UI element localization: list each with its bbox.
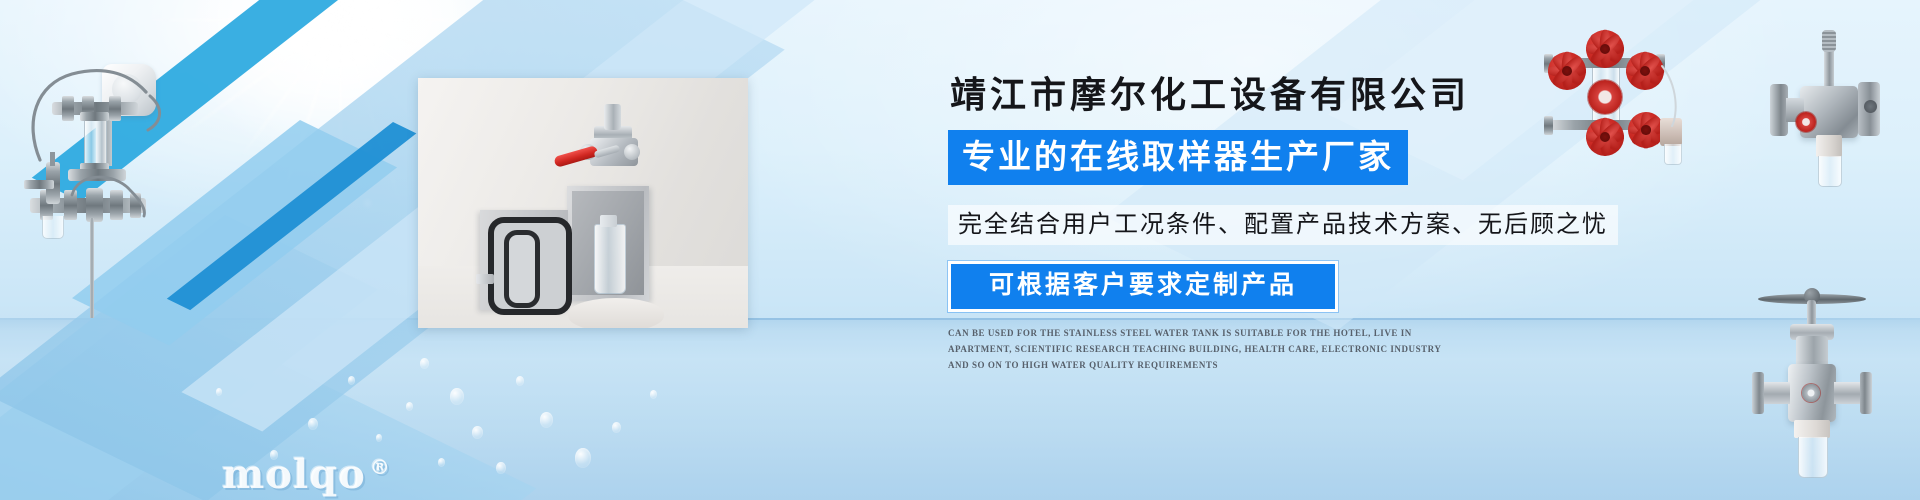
registered-trademark-icon: ® [370,455,391,479]
tubing-lines [10,30,210,330]
left-product-render [10,30,210,330]
watermark-logo: molqo® [222,455,391,495]
custom-product-badge: 可根据客户要求定制产品 [948,261,1338,312]
secondary-tagline: 完全结合用户工况条件、配置产品技术方案、无后顾之忧 [948,205,1618,246]
lever-handle-valve-render [1760,30,1900,190]
promotional-banner: 靖江市摩尔化工设备有限公司 专业的在线取样器生产厂家 完全结合用户工况条件、配置… [0,0,1920,500]
door-latch [476,274,494,284]
primary-tagline-badge: 专业的在线取样器生产厂家 [948,130,1408,185]
water-droplets [120,330,740,500]
banner-text-block: 靖江市摩尔化工设备有限公司 专业的在线取样器生产厂家 完全结合用户工况条件、配置… [948,76,1708,383]
center-product-photo [418,78,748,328]
certification-seal-icon [1796,112,1816,132]
sample-bottle [1818,156,1842,187]
watermark-text: molqo [222,451,366,498]
company-name: 靖江市摩尔化工设备有限公司 [950,76,1708,116]
door-window [504,230,540,308]
flanged-sampling-valve-render [1742,280,1882,480]
sample-bottle [1798,437,1828,478]
outlet-flange [1860,372,1872,414]
collection-bottle [594,224,626,294]
inlet-flange [1752,372,1764,414]
pedestal-base [568,298,664,328]
english-description: CAN BE USED FOR THE STAINLESS STEEL WATE… [948,326,1458,373]
certification-seal-icon [1802,384,1820,402]
